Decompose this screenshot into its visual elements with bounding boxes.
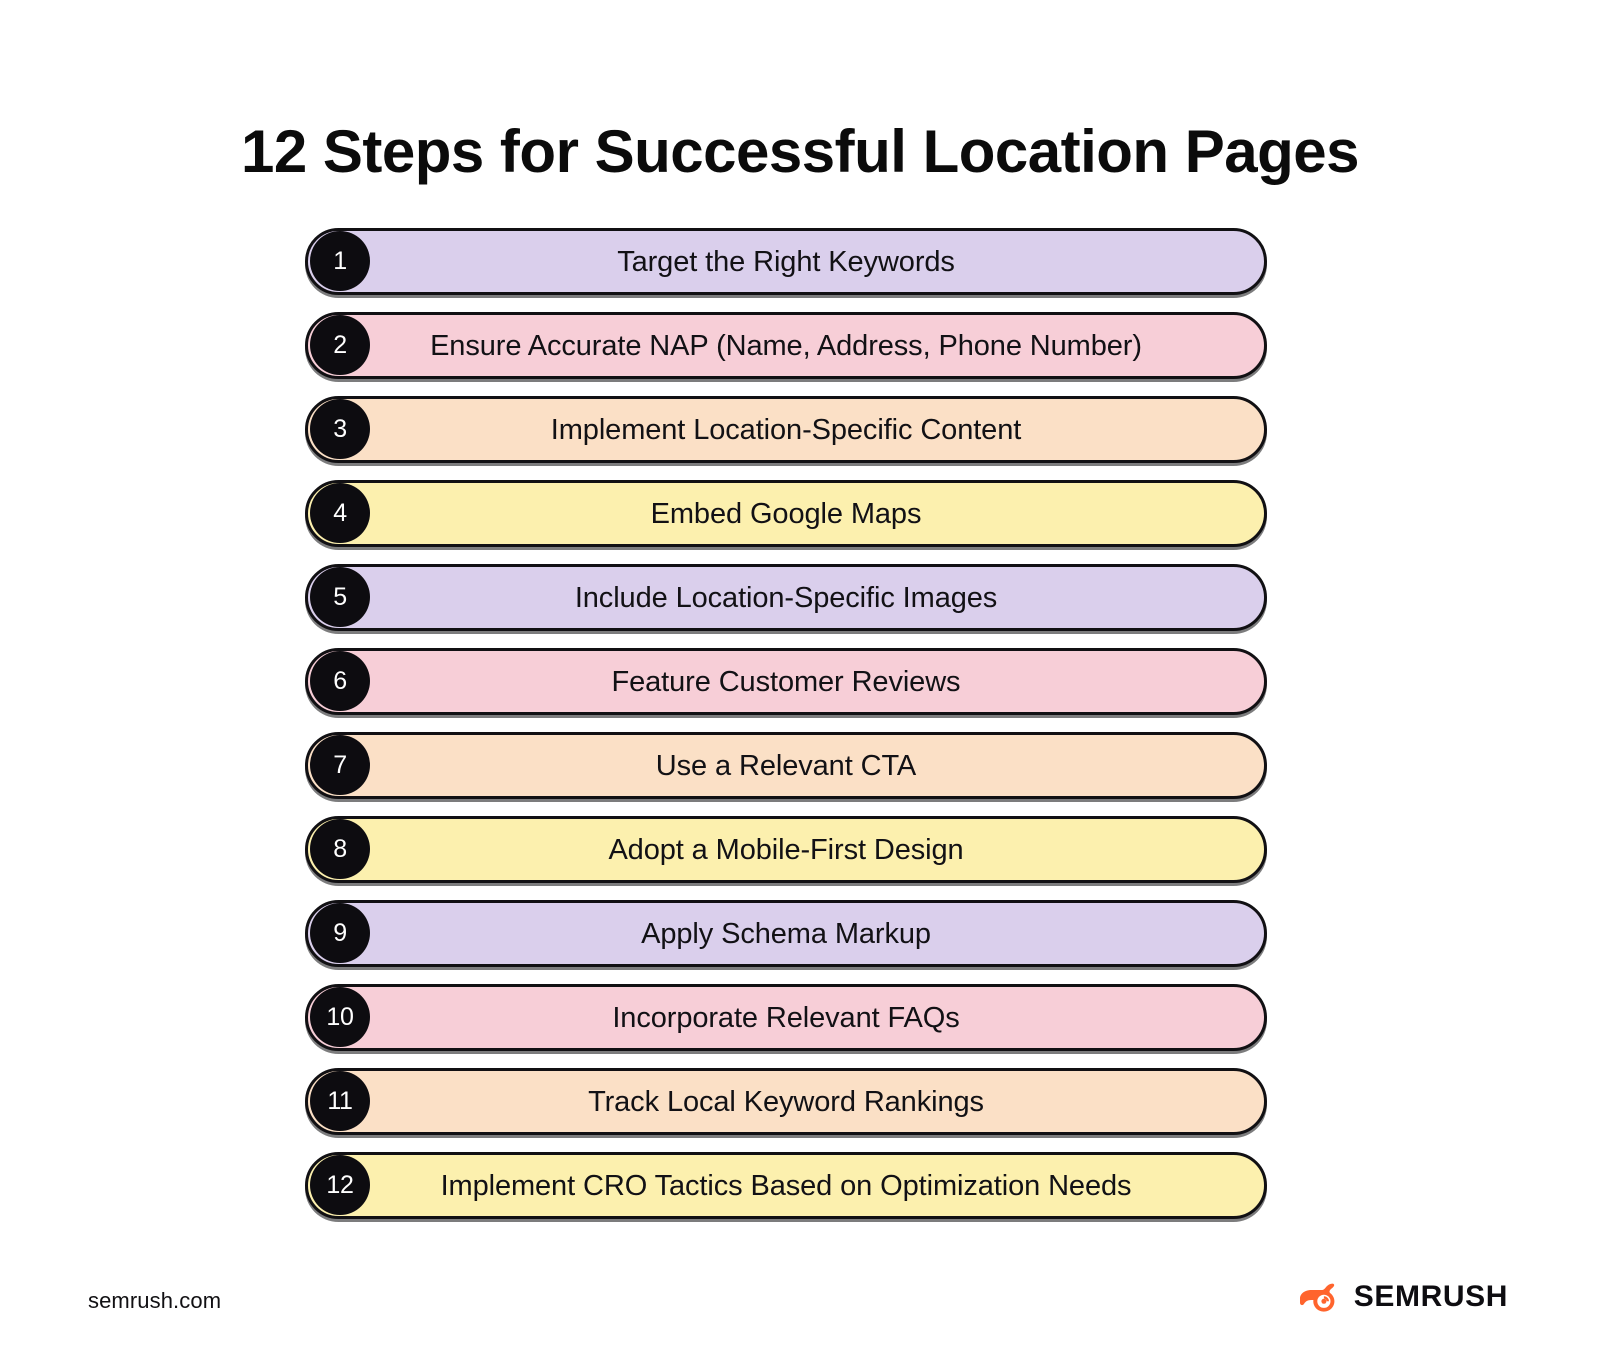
step-label: Implement Location-Specific Content [471,413,1101,447]
steps-list: Target the Right Keywords1Ensure Accurat… [305,228,1267,1236]
step-pill[interactable]: Track Local Keyword Rankings [305,1068,1267,1135]
step-number: 12 [326,1173,353,1198]
step-pill[interactable]: Implement Location-Specific Content [305,396,1267,463]
footer-url: semrush.com [88,1288,221,1314]
step-label: Feature Customer Reviews [532,665,1041,699]
step-number-badge: 11 [310,1071,370,1131]
step-number-badge: 4 [310,483,370,543]
step-number: 11 [327,1089,352,1114]
step-pill[interactable]: Incorporate Relevant FAQs [305,984,1267,1051]
step-pill[interactable]: Ensure Accurate NAP (Name, Address, Phon… [305,312,1267,379]
step-number: 9 [333,921,347,946]
step-number: 4 [333,501,347,526]
step-number: 3 [333,417,347,442]
step-number: 8 [333,837,347,862]
step-number-badge: 10 [310,987,370,1047]
step-pill[interactable]: Use a Relevant CTA [305,732,1267,799]
step-label: Ensure Accurate NAP (Name, Address, Phon… [350,329,1222,363]
step-row: Adopt a Mobile-First Design8 [305,816,1267,883]
step-label: Adopt a Mobile-First Design [528,833,1043,867]
step-row: Feature Customer Reviews6 [305,648,1267,715]
step-number-badge: 2 [310,315,370,375]
step-number-badge: 3 [310,399,370,459]
step-row: Target the Right Keywords1 [305,228,1267,295]
step-number-badge: 12 [310,1155,370,1215]
infographic-canvas: 12 Steps for Successful Location Pages T… [0,0,1600,1372]
step-pill[interactable]: Adopt a Mobile-First Design [305,816,1267,883]
step-number-badge: 9 [310,903,370,963]
step-row: Track Local Keyword Rankings11 [305,1068,1267,1135]
step-label: Apply Schema Markup [561,917,1011,951]
step-number-badge: 8 [310,819,370,879]
step-row: Use a Relevant CTA7 [305,732,1267,799]
brand-name: SEMRUSH [1354,1282,1508,1312]
step-number: 10 [326,1005,353,1030]
step-pill[interactable]: Apply Schema Markup [305,900,1267,967]
step-row: Ensure Accurate NAP (Name, Address, Phon… [305,312,1267,379]
step-number-badge: 1 [310,231,370,291]
step-number: 2 [333,333,347,358]
semrush-flame-icon [1298,1282,1340,1312]
step-label: Use a Relevant CTA [576,749,996,783]
step-label: Include Location-Specific Images [495,581,1077,615]
step-number: 6 [333,669,347,694]
step-pill[interactable]: Feature Customer Reviews [305,648,1267,715]
step-row: Incorporate Relevant FAQs10 [305,984,1267,1051]
step-label: Implement CRO Tactics Based on Optimizat… [361,1169,1212,1203]
step-row: Implement CRO Tactics Based on Optimizat… [305,1152,1267,1219]
step-label: Track Local Keyword Rankings [508,1085,1064,1119]
step-pill[interactable]: Embed Google Maps [305,480,1267,547]
step-row: Embed Google Maps4 [305,480,1267,547]
step-pill[interactable]: Include Location-Specific Images [305,564,1267,631]
step-number: 1 [333,249,347,274]
step-label: Incorporate Relevant FAQs [532,1001,1039,1035]
step-row: Apply Schema Markup9 [305,900,1267,967]
step-number-badge: 6 [310,651,370,711]
step-label: Target the Right Keywords [537,245,1035,279]
step-pill[interactable]: Target the Right Keywords [305,228,1267,295]
step-number-badge: 7 [310,735,370,795]
step-pill[interactable]: Implement CRO Tactics Based on Optimizat… [305,1152,1267,1219]
step-label: Embed Google Maps [571,497,1002,531]
page-title: 12 Steps for Successful Location Pages [0,116,1600,188]
step-row: Implement Location-Specific Content3 [305,396,1267,463]
step-number: 5 [333,585,347,610]
step-number-badge: 5 [310,567,370,627]
step-number: 7 [333,753,347,778]
semrush-logo: SEMRUSH [1298,1282,1508,1312]
step-row: Include Location-Specific Images5 [305,564,1267,631]
